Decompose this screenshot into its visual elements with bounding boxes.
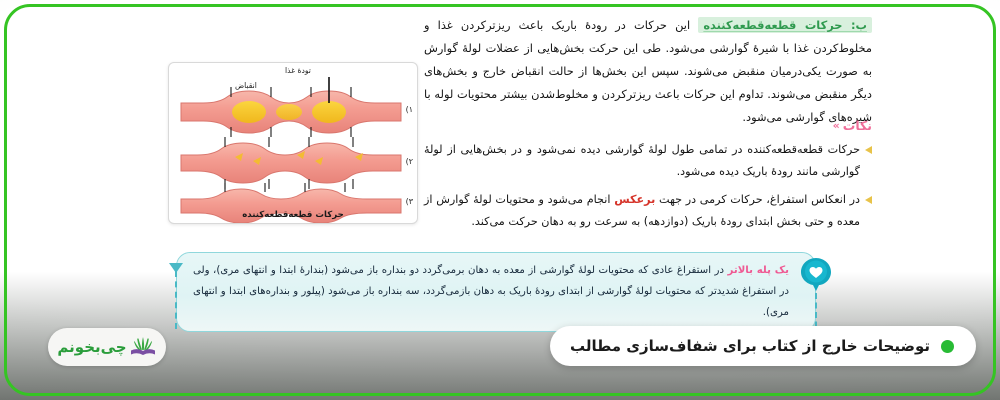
diagram-row-1	[181, 77, 401, 137]
row-number-1: ۱)	[406, 105, 413, 114]
triangle-bullet-icon	[865, 146, 872, 154]
arrow-down-icon-left	[169, 263, 183, 273]
notes-title-label: نکات	[843, 118, 872, 133]
segmentation-diagram: تودهٔ غذا انقباض ۱) ۲) ۳) حرکات قطعه‌قطع…	[168, 62, 418, 224]
note-text: حرکات قطعه‌قطعه‌کننده در تمامی طول لولهٔ…	[424, 139, 860, 183]
notes-title: نکات »	[424, 118, 872, 133]
status-dot-icon	[941, 340, 954, 353]
notes-section: نکات » حرکات قطعه‌قطعه‌کننده در تمامی طو…	[424, 118, 872, 233]
brand-logo-text: چی‌بخونم	[57, 338, 126, 356]
callout-text-wrapper: یک پله بالاتر در استفراغ عادی که محتویات…	[177, 253, 815, 329]
article-paragraph: این حرکات در رودهٔ باریک باعث ریزترکردن …	[424, 18, 872, 124]
chevron-double-icon: »	[833, 119, 840, 132]
list-item: حرکات قطعه‌قطعه‌کننده در تمامی طول لولهٔ…	[424, 139, 872, 183]
row-number-2: ۲)	[406, 157, 413, 166]
list-item: در انعکاس استفراغ، حرکات کرمی در جهت برع…	[424, 189, 872, 233]
book-plant-icon	[129, 334, 157, 360]
bottom-caption-text: توضیحات خارج از کتاب برای شفاف‌سازی مطال…	[570, 337, 930, 355]
section-heading-badge: ب: حرکات قطعه‌قطعه‌کننده	[698, 17, 872, 33]
heart-icon	[799, 257, 833, 291]
callout-body-text: در استفراغ عادی که محتویات لولهٔ گوارشی …	[193, 265, 789, 318]
dashed-connector-left	[175, 271, 177, 329]
label-contraction: انقباض	[235, 81, 257, 90]
note-text-before: در انعکاس استفراغ، حرکات کرمی در جهت	[655, 193, 860, 206]
row-number-3: ۳)	[406, 197, 413, 206]
bottom-caption-bar: توضیحات خارج از کتاب برای شفاف‌سازی مطال…	[550, 326, 976, 366]
callout-box-higher-step: یک پله بالاتر در استفراغ عادی که محتویات…	[176, 252, 816, 332]
triangle-bullet-icon	[865, 196, 872, 204]
note-emphasis: برعکس	[614, 193, 655, 206]
callout-lead-label: یک پله بالاتر	[728, 265, 789, 276]
diagram-svg	[169, 63, 417, 223]
diagram-row-2	[181, 137, 401, 189]
note-text: در انعکاس استفراغ، حرکات کرمی در جهت برع…	[424, 189, 860, 233]
screenshot-stage: ب: حرکات قطعه‌قطعه‌کننده این حرکات در رو…	[0, 0, 1000, 400]
figure-caption: حرکات قطعه‌قطعه‌کننده	[169, 210, 417, 220]
brand-logo[interactable]: چی‌بخونم	[48, 328, 166, 366]
article-text-block: ب: حرکات قطعه‌قطعه‌کننده این حرکات در رو…	[424, 14, 872, 129]
label-food-mass: تودهٔ غذا	[285, 66, 311, 75]
